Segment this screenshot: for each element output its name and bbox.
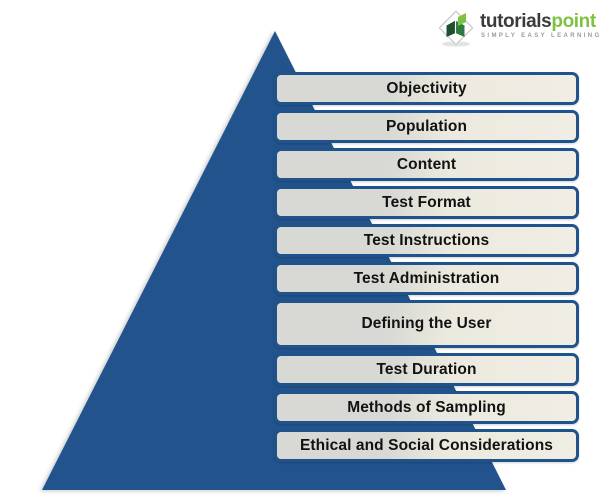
logo-wordmark: tutorialspoint	[480, 12, 596, 31]
screenshot-root: Objectivity Population Content Test Form…	[0, 0, 601, 503]
logo-word-point: point	[551, 11, 595, 32]
pyramid-levels: Objectivity Population Content Test Form…	[274, 72, 579, 467]
pyramid-level-label: Test Administration	[354, 270, 500, 288]
pyramid-level-6[interactable]: Test Administration	[274, 262, 579, 295]
pyramid-level-7[interactable]: Defining the User	[274, 300, 579, 348]
pyramid-level-4[interactable]: Test Format	[274, 186, 579, 219]
logo-word-tutorials: tutorials	[480, 11, 551, 32]
logo-tagline: SIMPLY EASY LEARNING	[481, 33, 601, 39]
pyramid-level-10[interactable]: Ethical and Social Considerations	[274, 429, 579, 462]
pyramid-level-3[interactable]: Content	[274, 148, 579, 181]
pyramid-level-9[interactable]: Methods of Sampling	[274, 391, 579, 424]
pyramid-level-label: Defining the User	[361, 315, 491, 333]
tutorialspoint-logo[interactable]: tutorialspoint SIMPLY EASY LEARNING	[432, 6, 592, 52]
pyramid-level-label: Test Duration	[376, 361, 476, 379]
pyramid-level-label: Population	[386, 118, 467, 136]
pyramid-level-label: Methods of Sampling	[347, 399, 506, 417]
pyramid-level-label: Objectivity	[386, 80, 466, 98]
pyramid-level-8[interactable]: Test Duration	[274, 353, 579, 386]
pyramid-level-1[interactable]: Objectivity	[274, 72, 579, 105]
pyramid-level-label: Content	[397, 156, 456, 174]
pyramid-level-2[interactable]: Population	[274, 110, 579, 143]
pyramid-level-label: Test Instructions	[364, 232, 489, 250]
pyramid-level-label: Test Format	[382, 194, 471, 212]
pyramid-level-5[interactable]: Test Instructions	[274, 224, 579, 257]
book-in-diamond-icon	[436, 8, 476, 48]
pyramid-level-label: Ethical and Social Considerations	[300, 437, 553, 455]
